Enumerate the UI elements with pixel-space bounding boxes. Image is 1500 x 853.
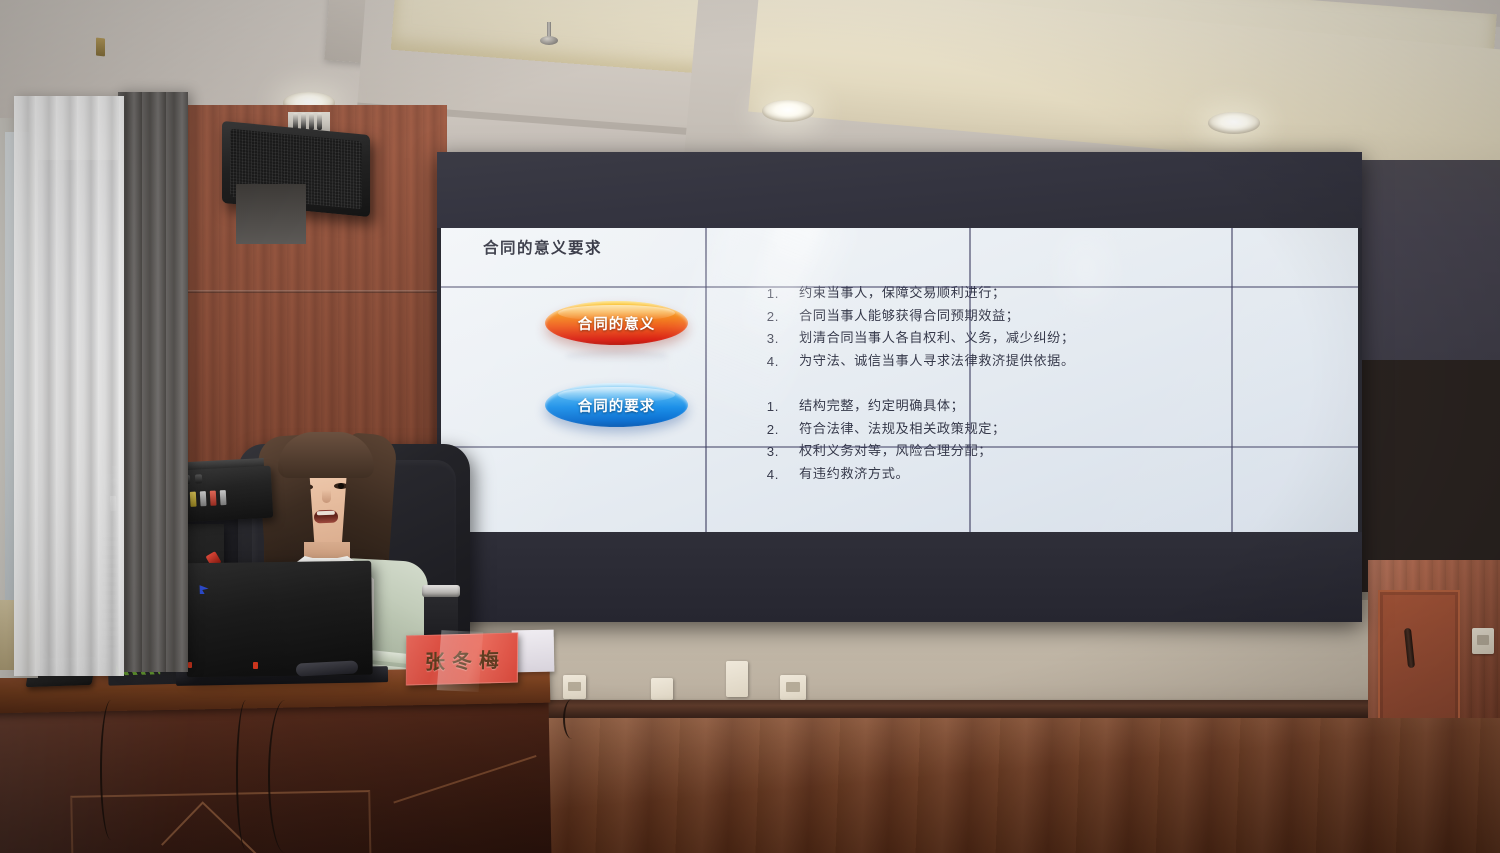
slide-surface: 合同的意义要求 合同的意义 合同的要求 1. 约束当事人，保障交易顺利进行； 2… — [441, 228, 1358, 532]
panel-seam-horizontal — [441, 446, 1358, 448]
sprinkler-head-icon — [540, 22, 558, 48]
mouth — [314, 510, 338, 524]
wall-light-switch[interactable] — [651, 678, 673, 700]
laptop-status-led — [188, 662, 192, 668]
wall-outlet[interactable] — [563, 675, 586, 699]
laptop-logo-icon — [200, 585, 209, 594]
outlet-cable — [563, 699, 581, 739]
video-wall-bottom-band — [437, 532, 1362, 622]
name-plate-text: 张冬梅 — [418, 643, 506, 674]
wall-outlet-right[interactable] — [1472, 628, 1494, 654]
list-text: 结构完整，约定明确具体； — [799, 396, 964, 419]
blackout-curtain[interactable] — [118, 92, 188, 672]
list-number: 1. — [765, 396, 779, 419]
pill-reflection — [565, 350, 669, 363]
wood-panel-seam — [185, 290, 447, 293]
list-number: 4. — [765, 464, 779, 487]
video-wall-top-band — [437, 152, 1362, 228]
sheer-curtain[interactable] — [14, 96, 124, 676]
floor-reflection — [440, 718, 1500, 853]
thermos-lid — [422, 585, 460, 597]
conference-room-scene: 合同的意义要求 合同的意义 合同的要求 1. 约束当事人，保障交易顺利进行； 2… — [0, 0, 1500, 853]
led-video-wall[interactable]: 合同的意义要求 合同的意义 合同的要求 1. 约束当事人，保障交易顺利进行； 2… — [437, 152, 1362, 622]
pill-label: 合同的意义 — [578, 313, 656, 334]
panel-seam-horizontal — [441, 286, 1358, 288]
ceiling-downlight — [1208, 112, 1260, 134]
speaker-logo-icon — [96, 38, 105, 57]
pill-contract-meaning: 合同的意义 — [545, 301, 688, 345]
panel-seam-vertical — [1231, 228, 1233, 532]
cabinet-door[interactable] — [1378, 590, 1460, 725]
hanging-cable — [236, 700, 256, 850]
panel-seam-vertical — [969, 228, 971, 532]
list-text: 为守法、诚信当事人寻求法律救济提供依据。 — [799, 351, 1075, 374]
list-text: 权利义务对等，风险合理分配； — [799, 441, 992, 464]
list-number: 2. — [765, 419, 779, 442]
hanging-cable — [100, 700, 122, 840]
name-plate: 张冬梅 — [406, 633, 518, 686]
list-text: 划清合同当事人各自权利、义务，减少纠纷； — [799, 328, 1075, 351]
curtain-header — [236, 184, 306, 244]
list-item: 3. 划清合同当事人各自权利、义务，减少纠纷； — [765, 328, 1075, 351]
panel-seam-vertical — [705, 228, 707, 532]
list-text: 有违约救济方式。 — [799, 464, 909, 487]
hair-top — [278, 432, 374, 478]
screen-sheen — [441, 228, 1358, 532]
list-number: 3. — [765, 441, 779, 464]
list-item: 4. 为守法、诚信当事人寻求法律救济提供依据。 — [765, 351, 1075, 374]
list-text: 合同当事人能够获得合同预期效益； — [799, 306, 1020, 329]
nose — [322, 490, 331, 503]
bullet-list-meaning: 1. 约束当事人，保障交易顺利进行； 2. 合同当事人能够获得合同预期效益； 3… — [765, 283, 1075, 373]
list-item: 2. 合同当事人能够获得合同预期效益； — [765, 306, 1075, 329]
hanging-cable — [268, 700, 302, 853]
wall-thermostat-panel[interactable] — [726, 661, 748, 697]
list-text: 符合法律、法规及相关政策规定； — [799, 419, 1006, 442]
wall-network-jack[interactable] — [780, 675, 806, 700]
wood-floor — [440, 718, 1500, 853]
slide-title: 合同的意义要求 — [483, 236, 602, 258]
pill-contract-requirements: 合同的要求 — [545, 383, 688, 427]
ceiling-downlight — [762, 100, 814, 122]
list-number: 2. — [765, 306, 779, 329]
laptop-power-led — [253, 662, 258, 669]
pill-label: 合同的要求 — [578, 395, 656, 416]
list-number: 4. — [765, 351, 779, 374]
laptop[interactable] — [185, 561, 373, 678]
list-number: 3. — [765, 328, 779, 351]
